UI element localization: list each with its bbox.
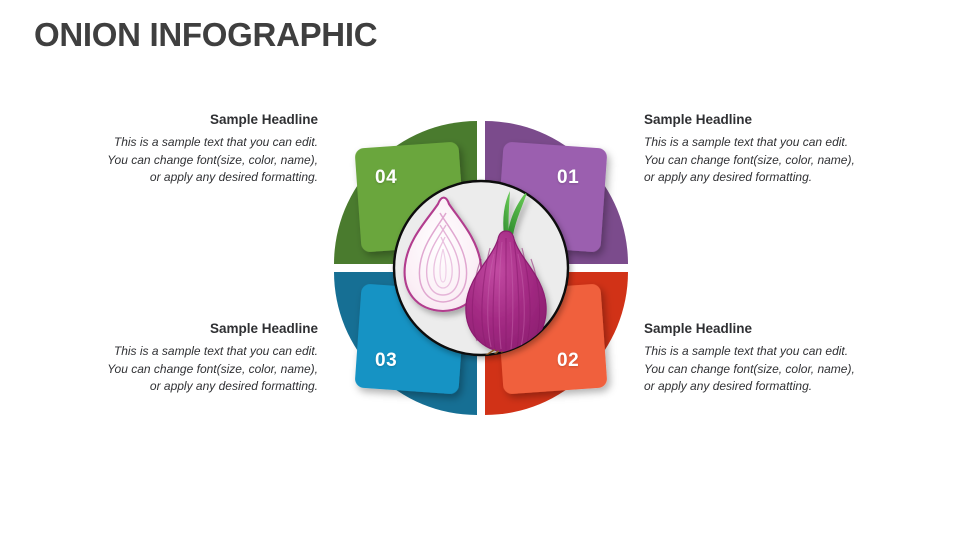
segment-body-line-04-3: or apply any desired formatting. [86, 169, 318, 187]
page-title: ONION INFOGRAPHIC [34, 16, 377, 54]
segment-headline-03: Sample Headline [86, 321, 318, 337]
segment-text-block-01: Sample Headline This is a sample text th… [644, 112, 876, 187]
segment-body-line-01-3: or apply any desired formatting. [644, 169, 876, 187]
segment-body-line-01-2: You can change font(size, color, name), [644, 152, 876, 170]
segment-text-block-03: Sample Headline This is a sample text th… [86, 321, 318, 396]
segment-body-line-03-2: You can change font(size, color, name), [86, 361, 318, 379]
segment-body-line-04-1: This is a sample text that you can edit. [86, 134, 318, 152]
segment-body-line-02-2: You can change font(size, color, name), [644, 361, 876, 379]
segment-headline-01: Sample Headline [644, 112, 876, 128]
segment-body-line-01-1: This is a sample text that you can edit. [644, 134, 876, 152]
segment-headline-02: Sample Headline [644, 321, 876, 337]
segment-text-block-02: Sample Headline This is a sample text th… [644, 321, 876, 396]
segment-body-line-04-2: You can change font(size, color, name), [86, 152, 318, 170]
segment-body-line-03-1: This is a sample text that you can edit. [86, 343, 318, 361]
segment-headline-04: Sample Headline [86, 112, 318, 128]
segment-body-line-03-3: or apply any desired formatting. [86, 378, 318, 396]
onion-wheel-diagram: 01 02 03 04 [320, 107, 642, 429]
segment-body-line-02-3: or apply any desired formatting. [644, 378, 876, 396]
segment-body-line-02-1: This is a sample text that you can edit. [644, 343, 876, 361]
segment-text-block-04: Sample Headline This is a sample text th… [86, 112, 318, 187]
